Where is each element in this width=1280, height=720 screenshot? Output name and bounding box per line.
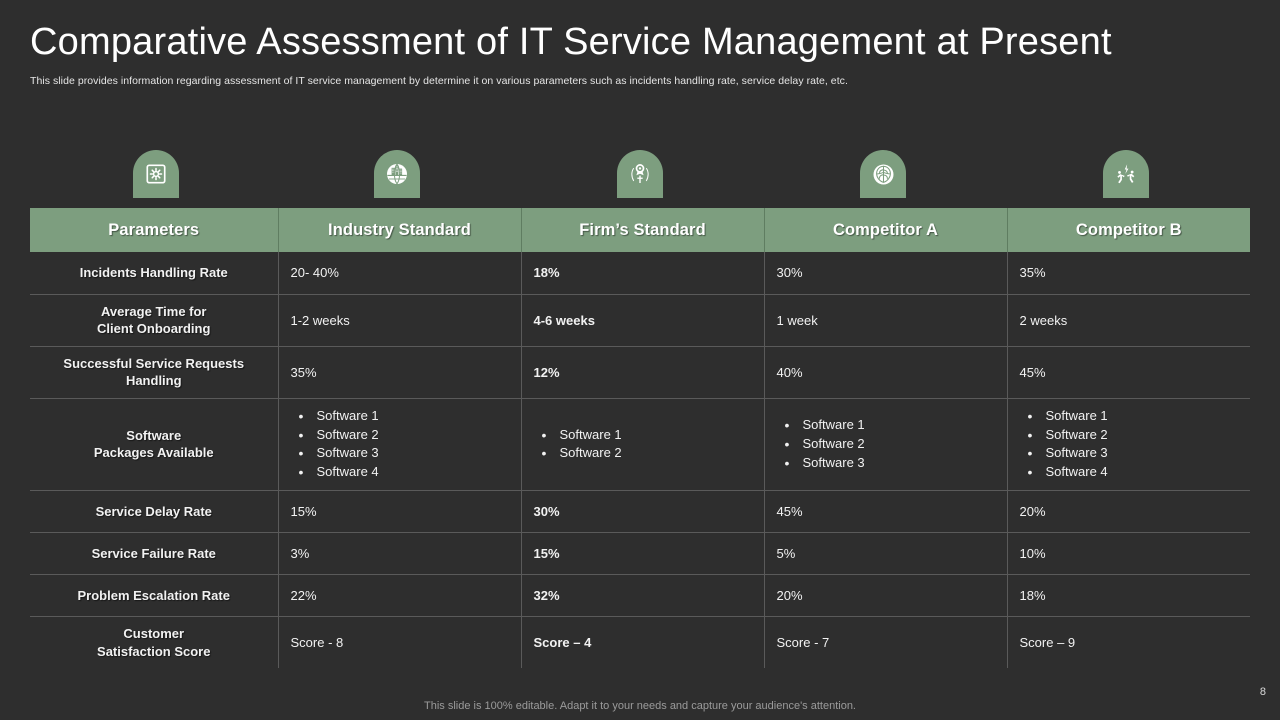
column-header-competitor-b: Competitor B [1007, 208, 1250, 252]
table-row: Problem Escalation Rate 22% 32% 20% 18% [30, 575, 1250, 617]
marker-industry-standard [374, 150, 420, 198]
row-parameter-label: SoftwarePackages Available [30, 398, 278, 490]
table-header-row: Parameters Industry Standard Firm’s Stan… [30, 208, 1250, 252]
list-item: Software 4 [295, 463, 509, 482]
table-row: Service Failure Rate 3% 15% 5% 10% [30, 533, 1250, 575]
cell-firm: 4-6 weeks [521, 294, 764, 346]
marker-competitor-a [860, 150, 906, 198]
cell-competitor-a: 30% [764, 252, 1007, 294]
cell-competitor-b: 35% [1007, 252, 1250, 294]
column-header-competitor-a: Competitor A [764, 208, 1007, 252]
row-parameter-label: Problem Escalation Rate [30, 575, 278, 617]
comparison-table: Parameters Industry Standard Firm’s Stan… [30, 208, 1250, 668]
list-item: Software 1 [781, 416, 995, 435]
page-subtitle: This slide provides information regardin… [30, 75, 1280, 87]
cell-competitor-b: Software 1Software 2Software 3Software 4 [1007, 398, 1250, 490]
list-item: Software 1 [1024, 407, 1239, 426]
cell-competitor-b: Score – 9 [1007, 617, 1250, 669]
row-parameter-label: Successful Service RequestsHandling [30, 346, 278, 398]
cell-competitor-a: 45% [764, 491, 1007, 533]
cell-firm: 15% [521, 533, 764, 575]
marker-parameters [133, 150, 179, 198]
list-item: Software 2 [1024, 426, 1239, 445]
cell-industry: 22% [278, 575, 521, 617]
table-row: SoftwarePackages Available Software 1Sof… [30, 398, 1250, 490]
cell-competitor-a: 40% [764, 346, 1007, 398]
marker-firms-standard [617, 150, 663, 198]
cell-firm: 32% [521, 575, 764, 617]
column-header-industry-standard: Industry Standard [278, 208, 521, 252]
cell-industry: Score - 8 [278, 617, 521, 669]
list-item: Software 3 [781, 454, 995, 473]
city-globe-icon [385, 162, 409, 186]
table-row: Service Delay Rate 15% 30% 45% 20% [30, 491, 1250, 533]
gear-in-frame-icon [145, 163, 167, 185]
list-item: Software 1 [295, 407, 509, 426]
row-parameter-label: Service Failure Rate [30, 533, 278, 575]
runners-lightning-icon [1114, 162, 1139, 187]
software-list: Software 1Software 2Software 3Software 4 [1020, 407, 1239, 482]
row-parameter-label: Service Delay Rate [30, 491, 278, 533]
brain-head-icon [871, 162, 896, 187]
list-item: Software 2 [781, 435, 995, 454]
cell-industry: 20- 40% [278, 252, 521, 294]
list-item: Software 2 [538, 444, 752, 463]
software-list: Software 1Software 2 [534, 426, 752, 464]
footer-note: This slide is 100% editable. Adapt it to… [0, 700, 1280, 712]
list-item: Software 4 [1024, 463, 1239, 482]
cell-industry: 1-2 weeks [278, 294, 521, 346]
list-item: Software 3 [1024, 444, 1239, 463]
page-number: 8 [1260, 686, 1266, 698]
marker-row [30, 150, 1250, 208]
cell-competitor-a: 5% [764, 533, 1007, 575]
cell-competitor-b: 20% [1007, 491, 1250, 533]
row-parameter-label: CustomerSatisfaction Score [30, 617, 278, 669]
cell-competitor-b: 45% [1007, 346, 1250, 398]
cell-industry: 35% [278, 346, 521, 398]
cell-firm: 12% [521, 346, 764, 398]
cell-firm: Score – 4 [521, 617, 764, 669]
cell-competitor-b: 2 weeks [1007, 294, 1250, 346]
cell-firm: Software 1Software 2 [521, 398, 764, 490]
software-list: Software 1Software 2Software 3 [777, 416, 995, 473]
row-parameter-label: Average Time forClient Onboarding [30, 294, 278, 346]
table-row: Average Time forClient Onboarding 1-2 we… [30, 294, 1250, 346]
page-title: Comparative Assessment of IT Service Man… [30, 22, 1280, 64]
cell-competitor-a: 1 week [764, 294, 1007, 346]
award-badge-icon [628, 162, 652, 186]
cell-competitor-a: Software 1Software 2Software 3 [764, 398, 1007, 490]
list-item: Software 3 [295, 444, 509, 463]
column-header-firms-standard: Firm’s Standard [521, 208, 764, 252]
table-row: Successful Service RequestsHandling 35% … [30, 346, 1250, 398]
list-item: Software 2 [295, 426, 509, 445]
cell-competitor-b: 10% [1007, 533, 1250, 575]
slide-header: Comparative Assessment of IT Service Man… [0, 0, 1280, 87]
cell-firm: 30% [521, 491, 764, 533]
cell-competitor-b: 18% [1007, 575, 1250, 617]
cell-firm: 18% [521, 252, 764, 294]
list-item: Software 1 [538, 426, 752, 445]
cell-industry: 15% [278, 491, 521, 533]
software-list: Software 1Software 2Software 3Software 4 [291, 407, 509, 482]
row-parameter-label: Incidents Handling Rate [30, 252, 278, 294]
cell-competitor-a: 20% [764, 575, 1007, 617]
table-row: CustomerSatisfaction Score Score - 8 Sco… [30, 617, 1250, 669]
table-row: Incidents Handling Rate 20- 40% 18% 30% … [30, 252, 1250, 294]
cell-competitor-a: Score - 7 [764, 617, 1007, 669]
column-header-parameters: Parameters [30, 208, 278, 252]
cell-industry: 3% [278, 533, 521, 575]
cell-industry: Software 1Software 2Software 3Software 4 [278, 398, 521, 490]
marker-competitor-b [1103, 150, 1149, 198]
